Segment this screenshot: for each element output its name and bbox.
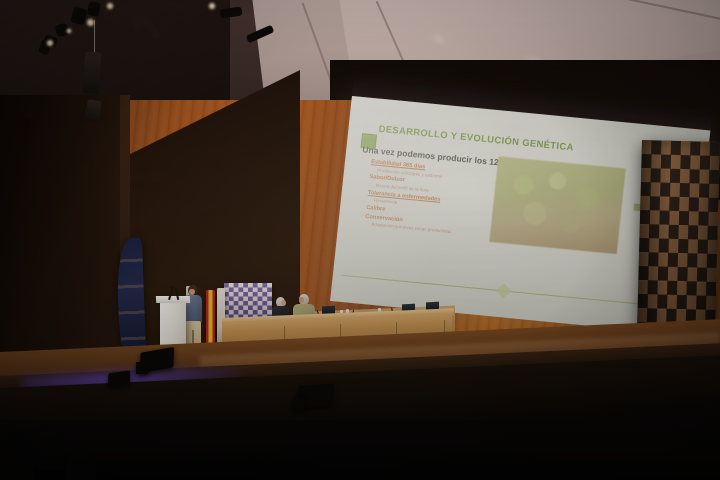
lamp-glow [106, 2, 114, 10]
audience-head [0, 452, 34, 480]
flag-spain [206, 290, 215, 348]
floor-monitor-foot [136, 362, 148, 374]
feather-flag [116, 238, 146, 359]
slide-footer-emblem-icon [495, 283, 510, 298]
slide-crop-photo [489, 156, 626, 254]
slide-footer-rule [341, 275, 688, 309]
lamp-glow [46, 39, 54, 47]
stage-lamp [87, 1, 101, 17]
lamp-glow [208, 2, 216, 10]
hanging-speaker [83, 51, 102, 94]
panelist-face [299, 297, 304, 303]
floor-monitor-foot [293, 398, 304, 410]
lamp-glow [66, 28, 72, 34]
lectern-top [156, 296, 190, 303]
audience-head [38, 440, 64, 470]
auditorium-photo: DESARROLLO Y EVOLUCIÓN GENÉTICA Una vez … [0, 0, 720, 480]
stage-cable [338, 398, 360, 414]
feather-flag-logo-pattern [116, 238, 146, 359]
audience-head [66, 452, 96, 480]
